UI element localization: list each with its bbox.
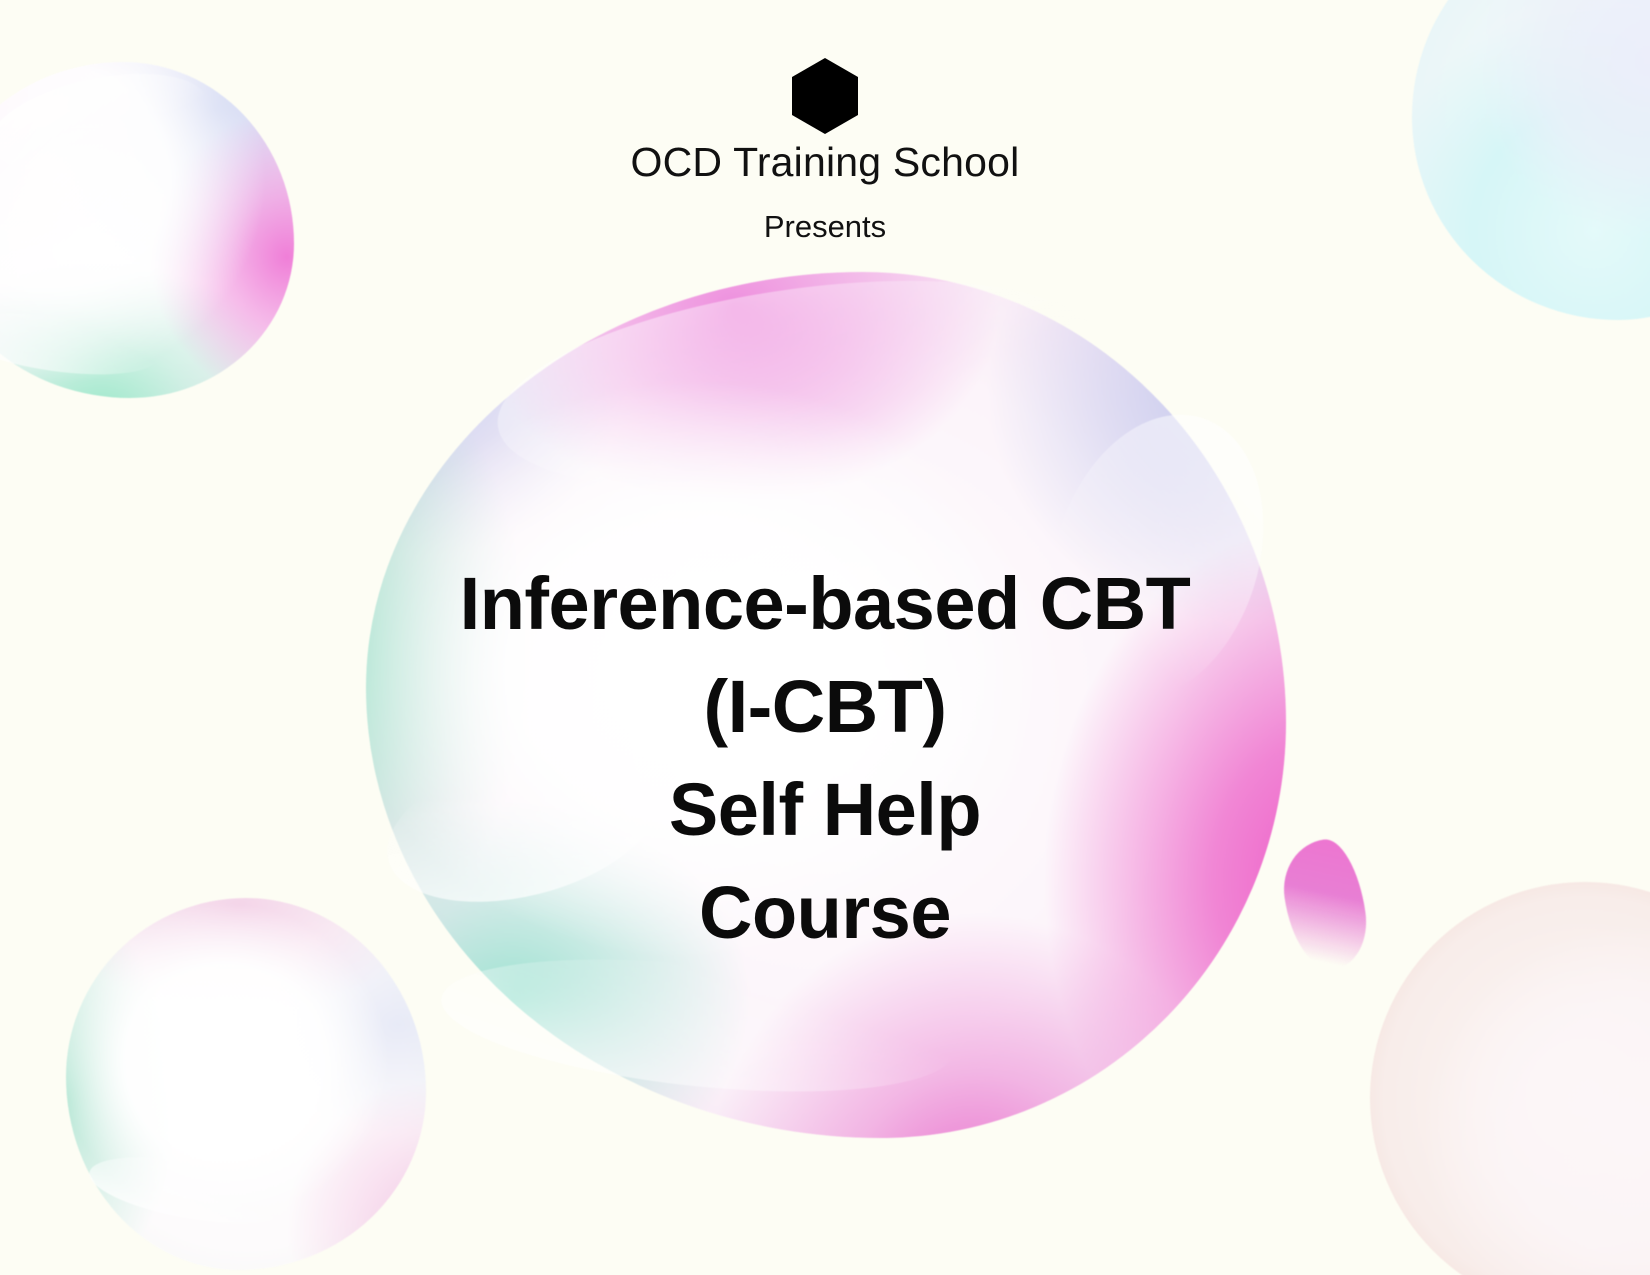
course-title: Inference-based CBT (I-CBT) Self Help Co… bbox=[375, 552, 1275, 964]
poster-content: OCD Training School Presents Inference-b… bbox=[0, 0, 1650, 1275]
presents-label: Presents bbox=[0, 210, 1650, 244]
brand-name: OCD Training School bbox=[0, 140, 1650, 184]
hexagon-icon bbox=[792, 58, 858, 134]
brand-block: OCD Training School Presents bbox=[0, 58, 1650, 244]
poster-canvas: OCD Training School Presents Inference-b… bbox=[0, 0, 1650, 1275]
